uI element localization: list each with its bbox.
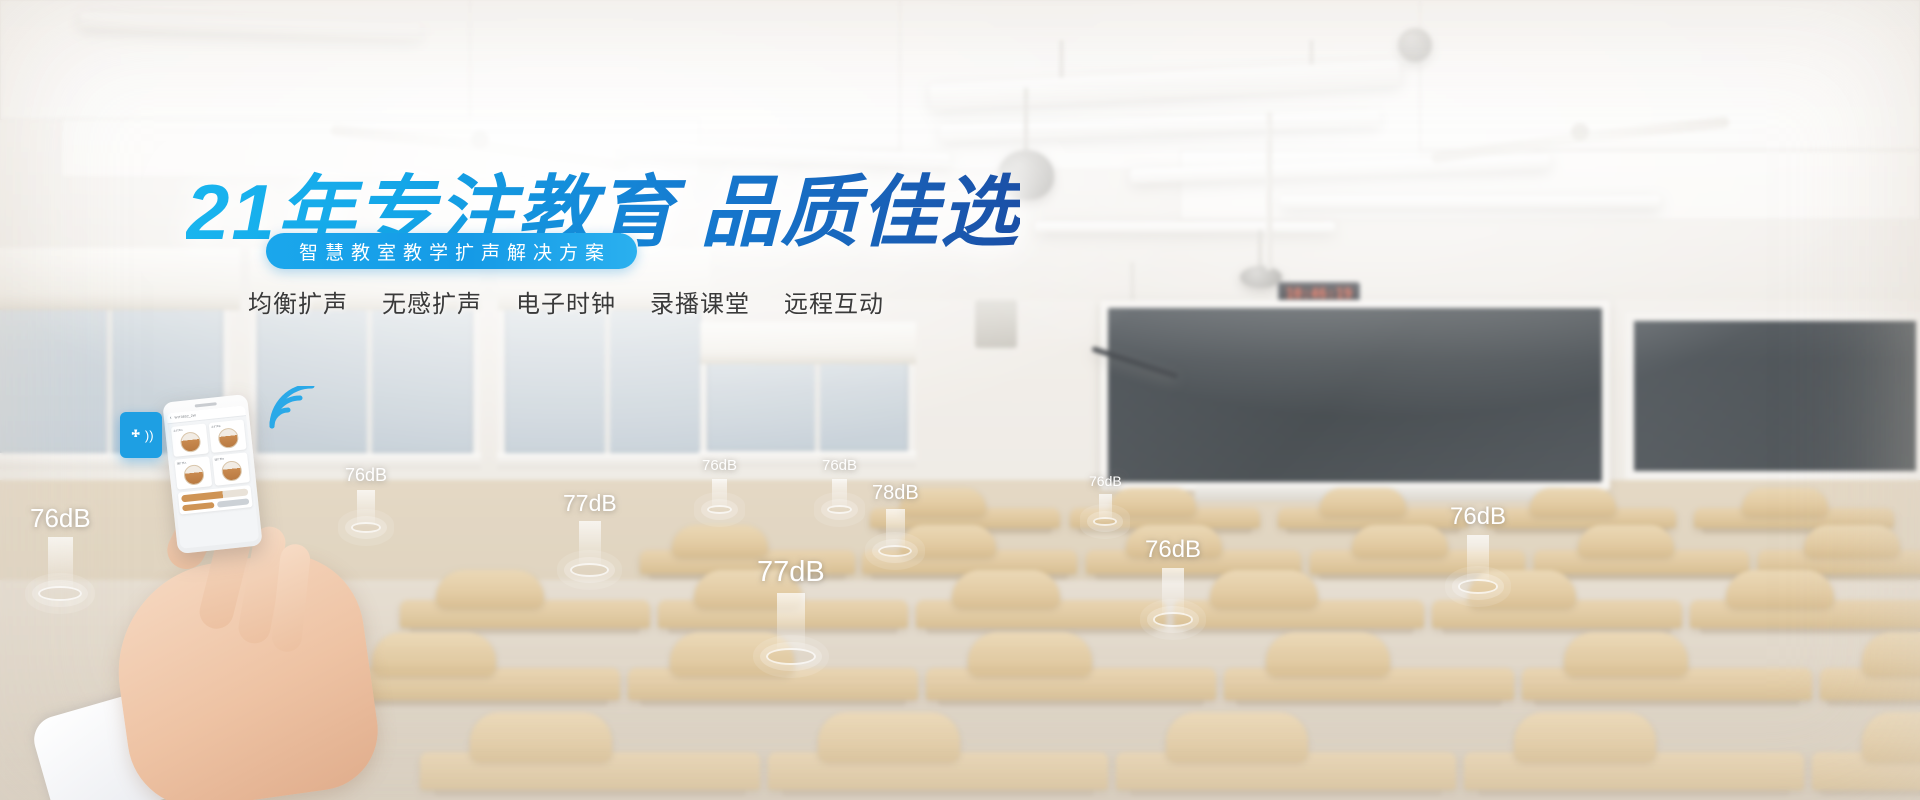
device-card[interactable]: 辅扩声B — [212, 452, 250, 485]
feature-keyword: 录播课堂 — [650, 284, 750, 319]
chair — [1266, 632, 1390, 676]
ceiling-panel — [1180, 150, 1920, 220]
chair — [470, 712, 612, 762]
light-rod — [1060, 40, 1063, 78]
device-card-label: 辅扩声B — [214, 457, 224, 462]
blackboard — [1100, 300, 1610, 490]
chair — [1352, 525, 1448, 557]
device-card[interactable]: 主扩声A — [171, 423, 209, 456]
settings-button[interactable] — [217, 498, 249, 507]
phone-speaker — [194, 402, 216, 407]
ceiling-speaker — [1240, 266, 1282, 288]
device-card-label: 主扩声A — [173, 428, 183, 433]
ceiling-sensor — [1398, 28, 1432, 62]
chair — [670, 632, 794, 676]
chair — [900, 488, 986, 516]
feature-keyword-list: 均衡扩声无感扩声电子时钟录播课堂远程互动 — [248, 284, 884, 319]
chair — [1578, 525, 1674, 557]
feature-keyword: 电子时钟 — [516, 284, 616, 319]
feature-keyword: 均衡扩声 — [248, 284, 348, 319]
chair — [1862, 712, 1920, 762]
palm — [105, 544, 386, 800]
device-card-label: 主扩声B — [211, 424, 221, 429]
device-card[interactable]: 主扩声B — [209, 419, 247, 452]
chair — [1742, 488, 1828, 516]
device-level-knob[interactable] — [179, 431, 201, 453]
device-card[interactable]: 辅扩声A — [174, 456, 212, 489]
device-level-knob[interactable] — [217, 427, 239, 449]
chair — [1210, 570, 1318, 608]
chair — [968, 632, 1092, 676]
chair — [1514, 712, 1656, 762]
chair — [1110, 488, 1196, 516]
chair — [1126, 525, 1222, 557]
ceiling-light — [1280, 196, 1660, 208]
wifi-arc-icon — [266, 386, 320, 430]
bluetooth-badge: ᛭ )) — [120, 412, 162, 458]
blackboard-right — [1625, 312, 1920, 480]
speaker-rod — [1024, 88, 1028, 156]
chair — [694, 570, 802, 608]
chair — [1166, 712, 1308, 762]
mode-button[interactable] — [182, 502, 214, 511]
signal-waves-icon: )) — [145, 429, 154, 442]
wall-control-panel — [975, 300, 1017, 348]
app-screen[interactable]: ‹ WIT0802_2W 主扩声A主扩声B辅扩声A辅扩声B — [166, 405, 259, 549]
device-card-grid: 主扩声A主扩声B辅扩声A辅扩声B — [168, 416, 254, 493]
support-pole — [1266, 112, 1272, 270]
device-level-knob[interactable] — [220, 460, 242, 482]
ceiling-fan — [1430, 112, 1730, 152]
device-level-knob[interactable] — [183, 464, 205, 486]
chair — [900, 525, 996, 557]
bluetooth-icon: ᛭ — [128, 423, 142, 447]
chair — [1468, 570, 1576, 608]
chair — [818, 712, 960, 762]
chair — [1320, 488, 1406, 516]
smartphone[interactable]: ‹ WIT0802_2W 主扩声A主扩声B辅扩声A辅扩声B — [162, 394, 262, 554]
chair — [672, 525, 768, 557]
feature-keyword: 无感扩声 — [382, 284, 482, 319]
hand-illustration — [60, 470, 490, 800]
app-title: WIT0802_2W — [174, 413, 196, 419]
ceiling-light — [1035, 222, 1335, 232]
chair — [1804, 525, 1900, 557]
feature-keyword: 远程互动 — [784, 284, 884, 319]
chair — [1726, 570, 1834, 608]
device-card-label: 辅扩声A — [177, 461, 187, 466]
hero-banner: 10:46:19 — [0, 0, 1920, 800]
subtitle-pill-label: 智慧教室教学扩声解决方案 — [292, 238, 611, 265]
chair — [952, 570, 1060, 608]
window-blind — [700, 322, 916, 364]
chair — [1530, 488, 1616, 516]
subtitle-pill: 智慧教室教学扩声解决方案 — [266, 233, 637, 269]
chevron-left-icon[interactable]: ‹ — [170, 415, 172, 420]
chair — [1564, 632, 1688, 676]
